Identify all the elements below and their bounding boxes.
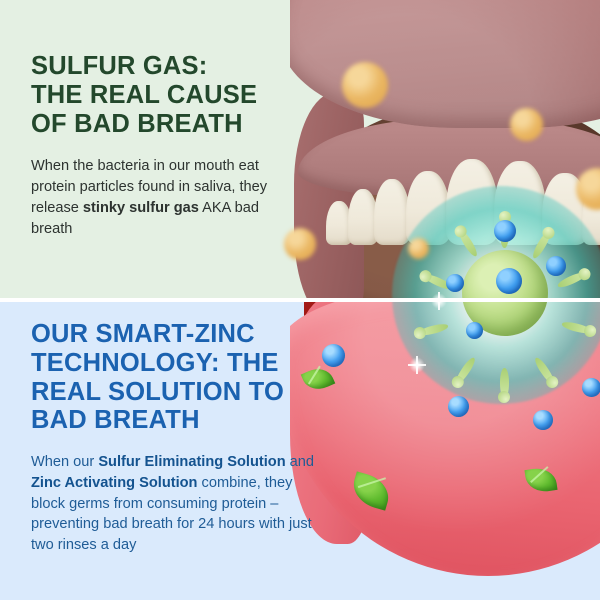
zinc-particle: [466, 322, 483, 339]
tooth: [374, 179, 410, 245]
solution-headline-line-4: BAD BREATH: [31, 406, 200, 434]
solution-headline-line-2: TECHNOLOGY: THE: [31, 349, 279, 377]
section-divider: [0, 298, 600, 302]
sulfur-gas-bubble: [284, 228, 316, 260]
zinc-particle: [494, 220, 516, 242]
sulfur-gas-bubble: [408, 238, 429, 259]
zinc-particle: [582, 378, 600, 397]
zinc-particle: [448, 396, 469, 417]
solution-copy-block: OUR SMART-ZINC TECHNOLOGY: THE REAL SOLU…: [31, 320, 316, 556]
zinc-particle: [496, 268, 522, 294]
solution-body-part-2: and: [286, 454, 314, 470]
problem-headline-line-3: OF BAD BREATH: [31, 110, 243, 138]
zinc-particle: [446, 274, 464, 292]
problem-headline-line-2: THE REAL CAUSE: [31, 81, 257, 109]
germ-spike: [457, 228, 480, 258]
problem-headline: SULFUR GAS: THE REAL CAUSE OF BAD BREATH: [31, 52, 293, 138]
solution-headline: OUR SMART-ZINC TECHNOLOGY: THE REAL SOLU…: [31, 320, 316, 435]
solution-body-text: When our Sulfur Eliminating Solution and…: [31, 452, 316, 556]
problem-copy-block: SULFUR GAS: THE REAL CAUSE OF BAD BREATH…: [31, 52, 293, 239]
solution-headline-line-1: OUR SMART-ZINC: [31, 320, 255, 348]
sulfur-gas-bubble: [342, 62, 388, 108]
solution-body-bold-2: Zinc Activating Solution: [31, 475, 197, 491]
problem-body-text: When the bacteria in our mouth eat prote…: [31, 156, 293, 239]
solution-body-part-1: When our: [31, 454, 98, 470]
sulfur-gas-bubble: [510, 108, 543, 141]
solution-body-bold-1: Sulfur Eliminating Solution: [98, 454, 285, 470]
zinc-particle: [546, 256, 566, 276]
product-infographic: SULFUR GAS: THE REAL CAUSE OF BAD BREATH…: [0, 0, 600, 600]
solution-headline-line-3: REAL SOLUTION TO: [31, 378, 284, 406]
germ-spike: [531, 230, 553, 260]
sparkle-icon: [408, 356, 426, 374]
germ-spike: [500, 368, 509, 398]
problem-headline-line-1: SULFUR GAS:: [31, 52, 207, 80]
sulfur-producing-germ: [442, 230, 572, 360]
zinc-particle: [533, 410, 553, 430]
problem-body-bold-1: stinky sulfur gas: [83, 200, 199, 216]
zinc-particle: [322, 344, 345, 367]
